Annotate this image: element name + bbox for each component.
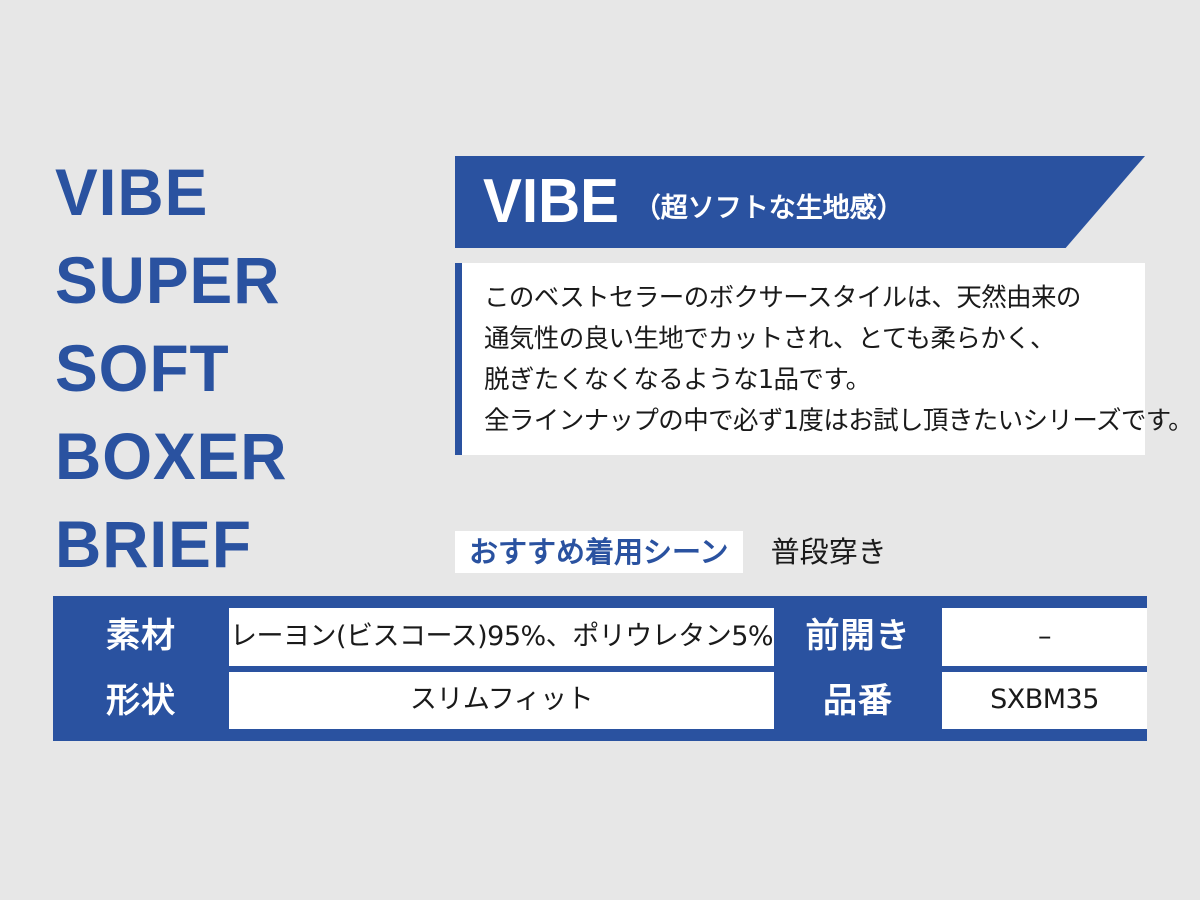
spec-table: 素材 レーヨン(ビスコース)95%、ポリウレタン5% 前開き – 形状 スリムフ… [53, 596, 1147, 741]
spec-value-front-opening: – [942, 608, 1147, 666]
spec-value-item-number-text: SXBM35 [980, 685, 1109, 715]
description-line-4: 全ラインナップの中で必ず1度はお試し頂きたいシリーズです。 [484, 401, 1145, 442]
series-banner-subtitle: （超ソフトな生地感） [634, 195, 904, 222]
description-panel: このベストセラーのボクサースタイルは、天然由来の 通気性の良い生地でカットされ、… [455, 263, 1145, 455]
product-title-line-2: SUPER [55, 236, 404, 324]
spec-label-item-number: 品番 [774, 669, 942, 734]
spec-label-material: 素材 [53, 604, 229, 669]
description-line-2: 通気性の良い生地でカットされ、とても柔らかく、 [484, 319, 1145, 360]
spec-value-shape: スリムフィット [229, 672, 774, 730]
series-banner: VIBE （超ソフトな生地感） [455, 156, 1145, 248]
product-title-line-4: BOXER [55, 412, 404, 500]
product-title-line-1: VIBE [55, 148, 404, 236]
product-title-line-3: SOFT [55, 324, 404, 412]
spec-label-shape: 形状 [53, 669, 229, 734]
recommended-scene-label: おすすめ着用シーン [455, 531, 743, 573]
spec-value-front-opening-text: – [1028, 622, 1061, 652]
recommended-scene-row: おすすめ着用シーン 普段穿き [455, 530, 887, 574]
series-banner-title: VIBE [483, 171, 619, 233]
spec-value-material-text: レーヨン(ビスコース)95%、ポリウレタン5% [220, 622, 783, 652]
product-info-graphic: VIBE SUPER SOFT BOXER BRIEF VIBE （超ソフトな生… [0, 0, 1200, 900]
spec-value-shape-text: スリムフィット [400, 685, 603, 715]
product-title: VIBE SUPER SOFT BOXER BRIEF [55, 148, 404, 588]
spec-label-front-opening: 前開き [774, 604, 942, 669]
description-text: このベストセラーのボクサースタイルは、天然由来の 通気性の良い生地でカットされ、… [462, 263, 1145, 442]
product-title-line-5: BRIEF [55, 500, 404, 588]
description-line-1: このベストセラーのボクサースタイルは、天然由来の [484, 278, 1145, 319]
spec-value-item-number: SXBM35 [942, 672, 1147, 730]
recommended-scene-value: 普段穿き [771, 532, 887, 572]
spec-value-material: レーヨン(ビスコース)95%、ポリウレタン5% [229, 608, 774, 666]
description-line-3: 脱ぎたくなくなるような1品です。 [484, 360, 1145, 401]
